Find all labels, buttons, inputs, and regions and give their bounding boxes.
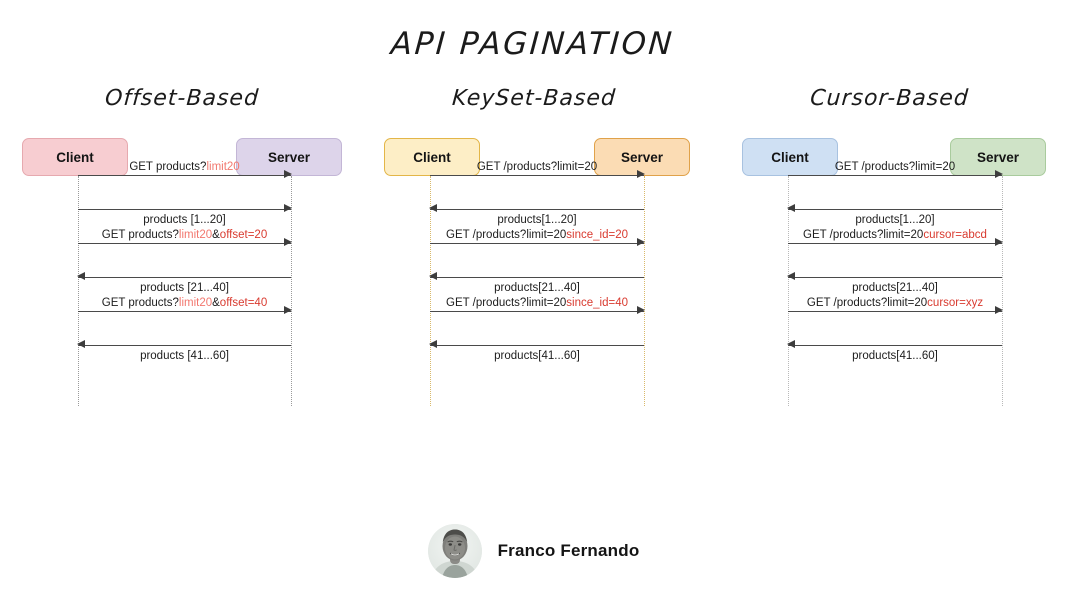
message-label: GET products?limit20&offset=40 <box>78 296 291 310</box>
message-text-segment: products [41...60] <box>140 350 229 362</box>
message-6-offset-based: products [41...60] <box>78 330 291 364</box>
message-1-keyset-based: GET /products?limit=20 <box>430 160 644 194</box>
arrow-line <box>430 243 644 244</box>
message-4-offset-based: products [21...40] <box>78 262 291 296</box>
message-text-segment: offset=40 <box>220 297 267 309</box>
message-text-segment: & <box>212 297 220 309</box>
arrow-head-left-icon <box>787 272 795 280</box>
message-text-segment: GET /products?limit=20 <box>803 229 923 241</box>
message-text-segment: since_id=20 <box>566 229 628 241</box>
message-text-segment: products [21...40] <box>140 282 229 294</box>
panel-heading-offset-based: Offset-Based <box>7 86 357 112</box>
arrow-head-right-icon <box>284 170 292 178</box>
message-5-keyset-based: GET /products?limit=20since_id=40 <box>430 296 644 330</box>
arrow-line <box>788 209 1002 210</box>
arrow-head-right-icon <box>995 306 1003 314</box>
arrow-head-left-icon <box>77 340 85 348</box>
arrow-line <box>78 311 291 312</box>
message-label: products[1...20] <box>430 213 644 227</box>
message-3-keyset-based: GET /products?limit=20since_id=20 <box>430 228 644 262</box>
message-label: GET products?limit20 <box>78 160 291 174</box>
message-label: products [1...20] <box>78 213 291 227</box>
message-label: products[21...40] <box>788 281 1002 295</box>
message-text-segment: GET /products?limit=20 <box>446 297 566 309</box>
panel-offset-based: Offset-Based ClientServerGET products?li… <box>0 86 356 413</box>
message-text-segment: GET /products?limit=20 <box>835 161 955 173</box>
message-label: GET /products?limit=20since_id=20 <box>430 228 644 242</box>
message-label: products[41...60] <box>788 349 1002 363</box>
message-5-cursor-based: GET /products?limit=20cursor=xyz <box>788 296 1002 330</box>
arrow-line <box>78 345 291 346</box>
arrow-head-left-icon <box>787 340 795 348</box>
message-text-segment: & <box>212 229 220 241</box>
message-text-segment: GET products? <box>102 229 179 241</box>
arrow-line <box>78 277 291 278</box>
message-text-segment: offset=20 <box>220 229 267 241</box>
message-text-segment: GET products? <box>102 297 179 309</box>
arrow-line <box>78 175 291 176</box>
arrow-line <box>78 209 291 210</box>
message-label: GET /products?limit=20cursor=abcd <box>788 228 1002 242</box>
arrow-line <box>788 277 1002 278</box>
avatar <box>428 524 482 578</box>
lifeline-server-cursor-based <box>1002 176 1003 406</box>
message-text-segment: limit20 <box>206 161 239 173</box>
message-text-segment: products[21...40] <box>852 282 938 294</box>
author-name: Franco Fernando <box>498 541 640 561</box>
message-text-segment: GET /products?limit=20 <box>477 161 597 173</box>
panel-heading-cursor-based: Cursor-Based <box>711 86 1067 112</box>
message-4-cursor-based: products[21...40] <box>788 262 1002 296</box>
message-text-segment: since_id=40 <box>566 297 628 309</box>
message-6-cursor-based: products[41...60] <box>788 330 1002 364</box>
message-text-segment: GET /products?limit=20 <box>446 229 566 241</box>
arrow-head-right-icon <box>637 238 645 246</box>
message-4-keyset-based: products[21...40] <box>430 262 644 296</box>
message-text-segment: products[41...60] <box>494 350 580 362</box>
message-text-segment: products[41...60] <box>852 350 938 362</box>
arrow-head-right-icon <box>637 306 645 314</box>
arrow-head-right-icon <box>284 204 292 212</box>
arrow-line <box>788 345 1002 346</box>
message-1-offset-based: GET products?limit20 <box>78 160 291 194</box>
arrow-line <box>430 311 644 312</box>
lifeline-server-keyset-based <box>644 176 645 406</box>
person-photo-avatar-icon <box>428 524 482 578</box>
message-text-segment: GET products? <box>129 161 206 173</box>
panel-cursor-based: Cursor-Based ClientServerGET /products?l… <box>712 86 1067 413</box>
arrow-head-left-icon <box>77 272 85 280</box>
arrow-head-left-icon <box>429 340 437 348</box>
arrow-head-left-icon <box>787 204 795 212</box>
arrow-line <box>430 209 644 210</box>
message-6-keyset-based: products[41...60] <box>430 330 644 364</box>
message-1-cursor-based: GET /products?limit=20 <box>788 160 1002 194</box>
arrow-head-right-icon <box>995 170 1003 178</box>
message-text-segment: limit20 <box>179 297 212 309</box>
message-2-offset-based: products [1...20] <box>78 194 291 228</box>
message-label: products[41...60] <box>430 349 644 363</box>
message-label: GET /products?limit=20cursor=xyz <box>788 296 1002 310</box>
message-text-segment: GET /products?limit=20 <box>807 297 927 309</box>
message-label: GET /products?limit=20 <box>430 160 644 174</box>
sequence-diagram-offset-based: ClientServerGET products?limit20products… <box>8 138 356 413</box>
sequence-diagram-keyset-based: ClientServerGET /products?limit=20produc… <box>356 138 712 413</box>
arrow-head-right-icon <box>284 306 292 314</box>
message-2-keyset-based: products[1...20] <box>430 194 644 228</box>
message-text-segment: products[1...20] <box>497 214 576 226</box>
message-label: products[21...40] <box>430 281 644 295</box>
arrow-line <box>430 175 644 176</box>
arrow-line <box>788 311 1002 312</box>
sequence-diagram-cursor-based: ClientServerGET /products?limit=20produc… <box>712 138 1067 413</box>
panel-heading-keyset-based: KeySet-Based <box>355 86 713 112</box>
message-text-segment: products[1...20] <box>855 214 934 226</box>
message-label: GET /products?limit=20 <box>788 160 1002 174</box>
arrow-line <box>430 277 644 278</box>
arrow-line <box>78 243 291 244</box>
arrow-line <box>788 175 1002 176</box>
message-text-segment: products [1...20] <box>143 214 225 226</box>
panel-keyset-based: KeySet-Based ClientServerGET /products?l… <box>356 86 712 413</box>
arrow-line <box>788 243 1002 244</box>
message-label: GET /products?limit=20since_id=40 <box>430 296 644 310</box>
page-title: API PAGINATION <box>0 0 1067 62</box>
arrow-head-right-icon <box>995 238 1003 246</box>
message-5-offset-based: GET products?limit20&offset=40 <box>78 296 291 330</box>
arrow-line <box>430 345 644 346</box>
message-text-segment: limit20 <box>179 229 212 241</box>
message-label: products[1...20] <box>788 213 1002 227</box>
message-label: GET products?limit20&offset=20 <box>78 228 291 242</box>
arrow-head-right-icon <box>637 170 645 178</box>
diagram-panels: Offset-Based ClientServerGET products?li… <box>0 86 1067 413</box>
message-text-segment: cursor=xyz <box>927 297 983 309</box>
message-2-cursor-based: products[1...20] <box>788 194 1002 228</box>
message-3-cursor-based: GET /products?limit=20cursor=abcd <box>788 228 1002 262</box>
message-text-segment: products[21...40] <box>494 282 580 294</box>
message-label: products [21...40] <box>78 281 291 295</box>
arrow-head-left-icon <box>429 272 437 280</box>
message-3-offset-based: GET products?limit20&offset=20 <box>78 228 291 262</box>
message-label: products [41...60] <box>78 349 291 363</box>
footer-author-credit: Franco Fernando <box>0 524 1067 578</box>
arrow-head-left-icon <box>429 204 437 212</box>
arrow-head-right-icon <box>284 238 292 246</box>
message-text-segment: cursor=abcd <box>923 229 987 241</box>
